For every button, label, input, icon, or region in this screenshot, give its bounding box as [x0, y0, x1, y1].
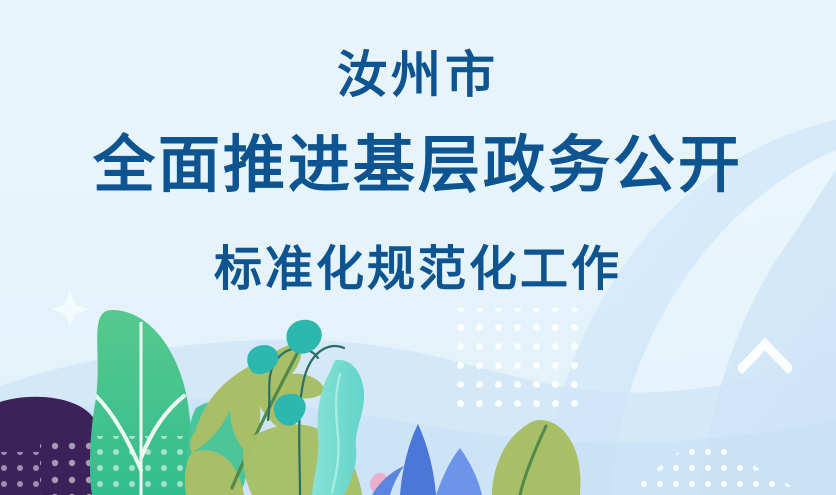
dot-grid-bottom-left: [0, 452, 44, 495]
poster-banner: 汝州市 全面推进基层政务公开 标准化规范化工作: [0, 0, 836, 495]
decorative-background: [0, 0, 836, 495]
dot-grid-center: [450, 308, 590, 408]
chevron-up-icon: [738, 336, 792, 374]
